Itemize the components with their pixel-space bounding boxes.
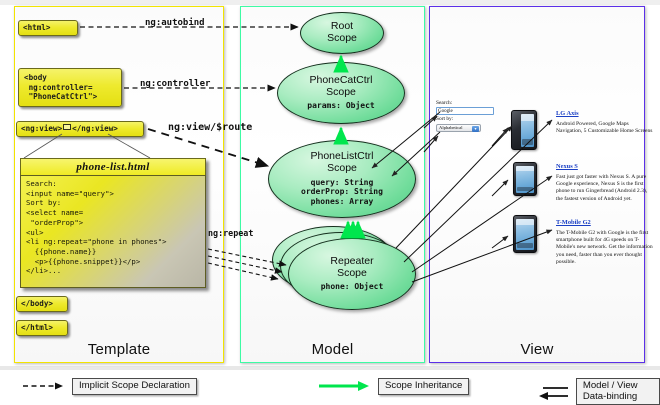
top-band [0,0,660,5]
ngview-tag-box: <ng:view></ng:view> [16,121,144,137]
search-label: Search: [436,100,496,107]
panel-view-label: View [430,341,644,358]
legend-label-implicit: Implicit Scope Declaration [72,378,197,395]
close-body-tag-box: </body> [16,296,68,312]
close-html-tag-box: </html> [16,320,68,336]
diagram-canvas: Template Model View <html> <body ng:cont… [0,0,660,405]
scope-phonelistctrl-title: PhoneListCtrlScope [310,151,373,175]
phone-thumbnail-t-mobile-g2 [513,215,537,253]
phone-list-callout: phone-list.html Search: <input name="que… [20,158,206,288]
scope-phonelistctrl-props: query: String orderProp: String phones: … [301,178,383,207]
listing-title-link[interactable]: LG Axis [556,110,654,118]
panel-template-label: Template [15,341,223,358]
scope-phonelistctrl: PhoneListCtrlScope query: String orderPr… [268,140,416,218]
sort-select-value: Alphabetical [439,125,462,130]
double-arrow-icon [539,383,568,401]
dashed-arrow-icon [22,380,64,392]
scope-repeater-props: phone: Object [321,282,384,292]
scope-root-title: RootScope [327,21,357,45]
chevron-down-icon: ▾ [472,126,479,132]
bottom-band [0,366,660,370]
scope-phonecatctrl-title: PhoneCatCtrlScope [309,75,372,99]
legend-label-inheritance: Scope Inheritance [378,378,469,395]
list-item: LG Axis Android Powered, Google Maps Nav… [556,110,654,135]
connector-label-autobind: ng:autobind [145,18,205,28]
connector-label-repeat: ng:repeat [208,228,253,238]
listing-title-link[interactable]: T-Mobile G2 [556,219,654,227]
ngview-close-label: </ng:view> [72,124,118,133]
callout-filename: phone-list.html [20,158,206,175]
legend-item-databinding: Model / View Data-binding [539,378,660,405]
scope-repeater-title: RepeaterScope [330,256,373,280]
panel-model-label: Model [241,341,424,358]
connector-label-controller: ng:controller [140,79,210,89]
callout-code: Search: <input name="query"> Sort by: <s… [20,175,206,288]
phone-thumbnail-lg-axis [511,110,537,150]
list-item: T-Mobile G2 The T-Mobile G2 with Google … [556,219,654,267]
view-search-form: Search: Google Sort by: Alphabetical ▾ [436,100,496,132]
legend-label-databinding: Model / View Data-binding [576,378,660,405]
search-input[interactable]: Google [436,107,494,115]
connector-label-route: ng:view/$route [168,122,252,133]
listing-description: Fast just got faster with Nexus S. A pur… [556,174,654,204]
scope-repeater: RepeaterScope phone: Object [288,238,416,310]
html-tag-box: <html> [18,20,78,36]
green-arrow-icon [318,380,370,392]
scope-root: RootScope [300,12,384,54]
listing-description: The T-Mobile G2 with Google is the first… [556,230,654,267]
listing-description: Android Powered, Google Maps Navigation,… [556,121,654,136]
phone-thumbnail-nexus-s [513,162,537,196]
scope-phonecatctrl: PhoneCatCtrlScope params: Object [277,62,405,124]
body-tag-box: <body ng:controller= "PhoneCatCtrl"> [18,68,122,107]
list-item: Nexus S Fast just got faster with Nexus … [556,163,654,203]
sort-label: Sort by: [436,116,496,123]
legend-item-implicit: Implicit Scope Declaration [22,378,197,395]
legend: Implicit Scope Declaration Scope Inherit… [0,372,660,405]
legend-item-inheritance: Scope Inheritance [318,378,469,395]
sort-select[interactable]: Alphabetical ▾ [436,124,481,132]
listing-title-link[interactable]: Nexus S [556,163,654,171]
scope-phonecatctrl-props: params: Object [307,101,374,111]
ngview-placeholder-rect [63,124,71,130]
ngview-open-label: <ng:view> [21,124,62,133]
